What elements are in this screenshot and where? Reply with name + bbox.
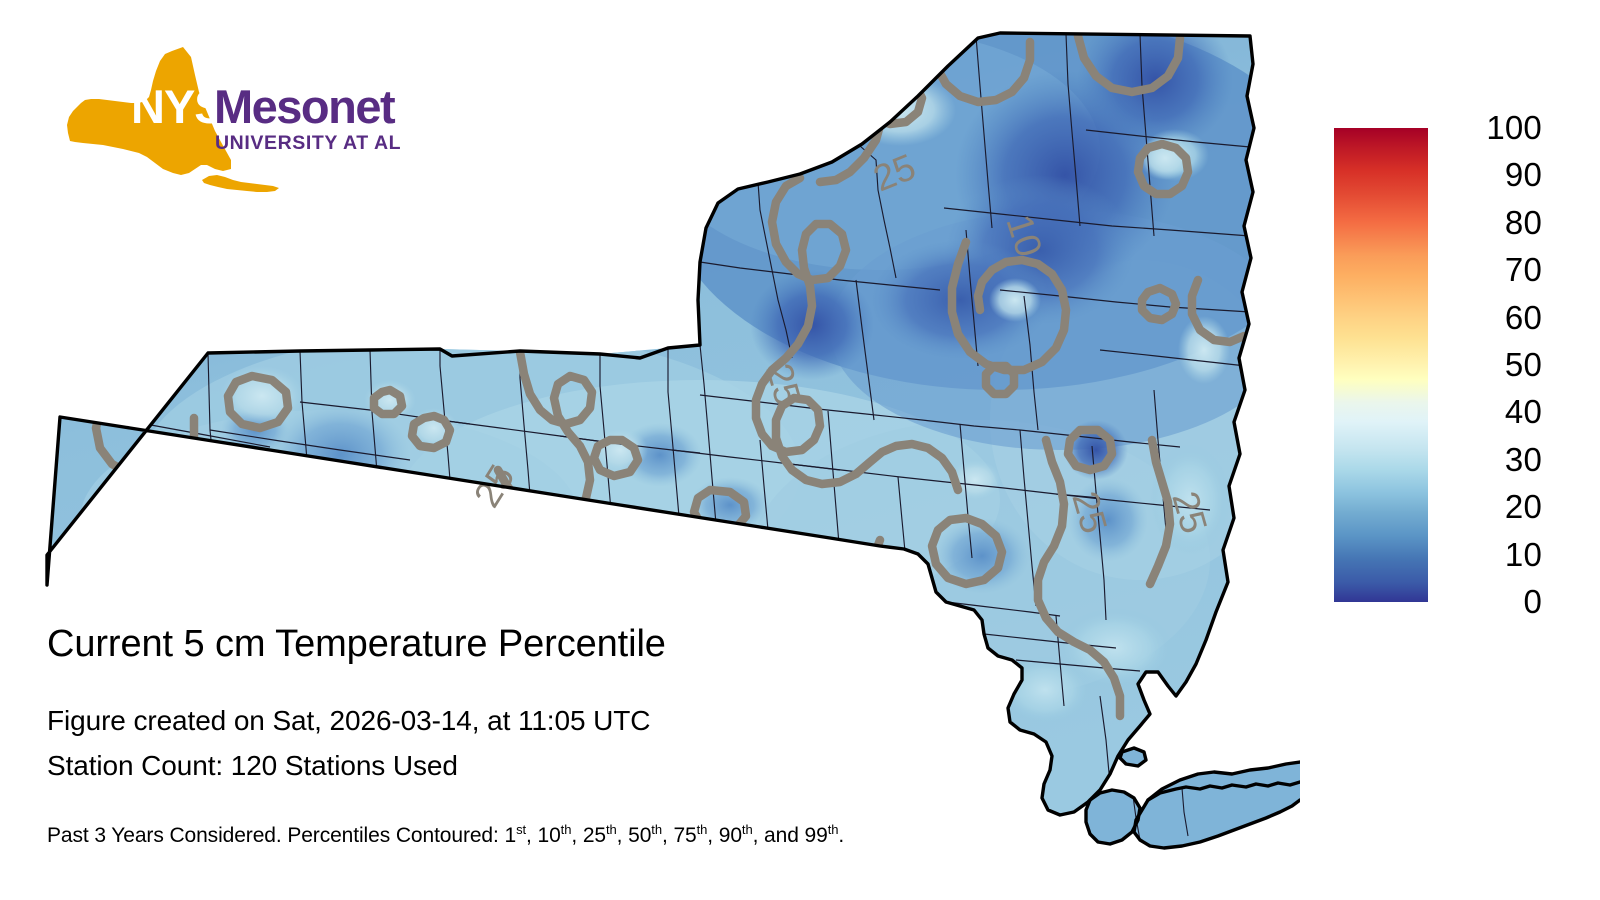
footnote-value-90: 90 [719, 824, 742, 847]
colorbar-tick-labels: 100 90 80 70 60 50 40 30 20 10 0 [1434, 105, 1542, 625]
figure-caption: Current 5 cm Temperature Percentile Figu… [47, 618, 927, 786]
colorbar-tick-80: 80 [1434, 200, 1542, 246]
footnote-ordinal-75: th [697, 822, 708, 837]
footnote-ordinal-50: th [651, 822, 662, 837]
colorbar-tick-100: 100 [1434, 105, 1542, 151]
footnote-ordinal-10: th [561, 822, 572, 837]
colorbar-tick-60: 60 [1434, 295, 1542, 341]
footnote-value-10: 10 [538, 824, 561, 847]
colorbar-tick-30: 30 [1434, 437, 1542, 483]
footnote-ordinal-99: th [828, 822, 839, 837]
colorbar-tick-70: 70 [1434, 247, 1542, 293]
footnote-ordinal-25: th [606, 822, 617, 837]
footnote-value-50: 50 [628, 824, 651, 847]
footnote-tail: . [838, 824, 844, 847]
colorbar-tick-40: 40 [1434, 389, 1542, 435]
figure-title: Current 5 cm Temperature Percentile [47, 618, 927, 670]
footnote-ordinal-1: st [516, 822, 526, 837]
colorbar-tick-20: 20 [1434, 484, 1542, 530]
contour-levels-footnote: Past 3 Years Considered. Percentiles Con… [47, 822, 844, 850]
colorbar-tick-50: 50 [1434, 342, 1542, 388]
footnote-value-75: 75 [673, 824, 696, 847]
footnote-value-99: 99 [805, 824, 828, 847]
colorbar-gradient [1334, 128, 1428, 602]
station-count-text: Station Count: 120 Stations Used [47, 745, 927, 786]
footnote-value-1: 1 [504, 824, 516, 847]
soil-temperature-percentile-figure: NYS Mesonet UNIVERSITY AT ALBANY [0, 0, 1600, 900]
percentile-colorbar: 100 90 80 70 60 50 40 30 20 10 0 [1334, 128, 1584, 608]
colorbar-tick-10: 10 [1434, 532, 1542, 578]
colorbar-tick-90: 90 [1434, 152, 1542, 198]
footnote-value-25: 25 [583, 824, 606, 847]
colorbar-tick-0: 0 [1434, 579, 1542, 625]
footnote-ordinal-90: th [742, 822, 753, 837]
footnote-lead: Past 3 Years Considered. Percentiles Con… [47, 824, 504, 847]
figure-created-timestamp: Figure created on Sat, 2026-03-14, at 11… [47, 700, 927, 741]
